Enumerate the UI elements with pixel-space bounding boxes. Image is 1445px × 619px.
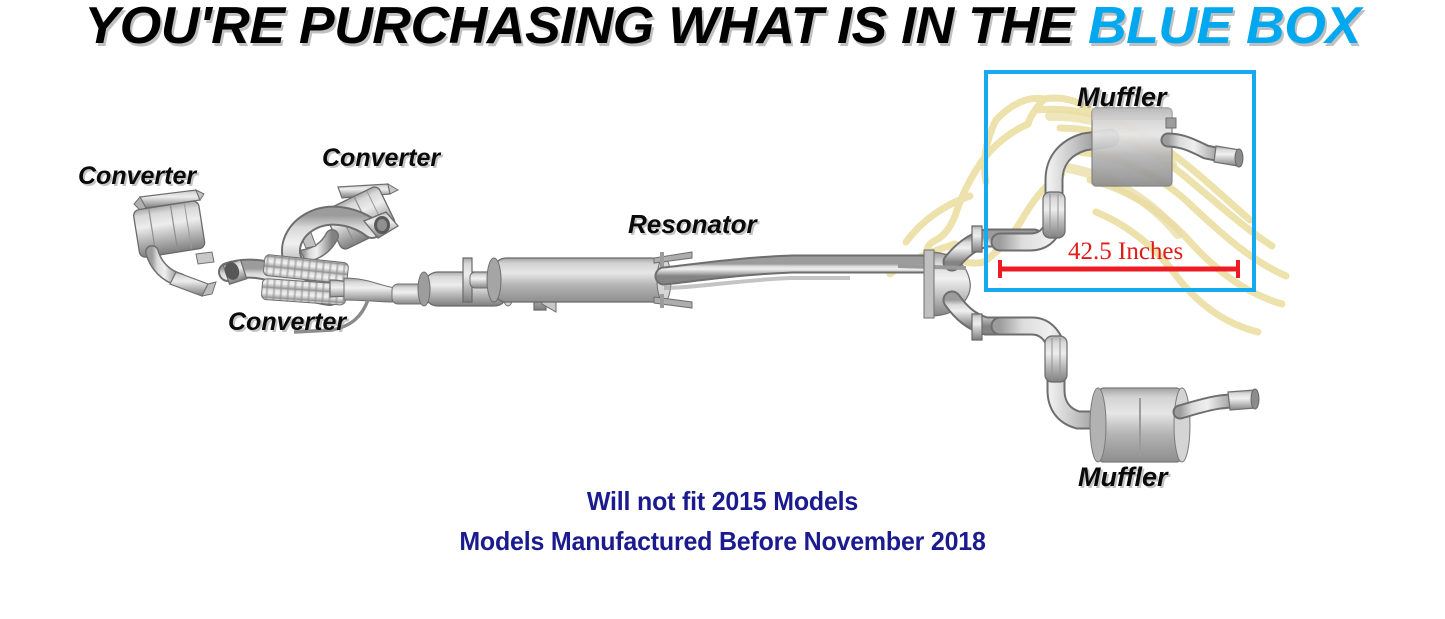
label-converter-top: Converter xyxy=(322,144,440,173)
page-title-black-text: YOU'RE PURCHASING WHAT IS IN THE xyxy=(84,0,1073,55)
fitment-note: Will not fit 2015 Models Models Manufact… xyxy=(0,481,1445,561)
dimension-arrow xyxy=(996,260,1242,278)
resonator-part xyxy=(463,252,930,308)
label-converter-left: Converter xyxy=(78,162,196,191)
exhaust-diagram-page: YOU'RE PURCHASING WHAT IS IN THE BLUE BO… xyxy=(0,0,1445,619)
fitment-note-line2: Models Manufactured Before November 2018 xyxy=(29,521,1416,561)
label-resonator: Resonator xyxy=(628,209,757,240)
muffler-part-bottom xyxy=(1000,326,1259,462)
label-muffler-top: Muffler xyxy=(1077,82,1167,113)
page-title: YOU'RE PURCHASING WHAT IS IN THE BLUE BO… xyxy=(0,0,1445,54)
label-converter-bottom: Converter xyxy=(228,308,346,337)
fitment-note-line1: Will not fit 2015 Models xyxy=(29,481,1416,521)
converter-part-left xyxy=(133,190,216,296)
page-title-blue-text: BLUE BOX xyxy=(1088,0,1361,55)
converter-part-top xyxy=(286,184,398,268)
